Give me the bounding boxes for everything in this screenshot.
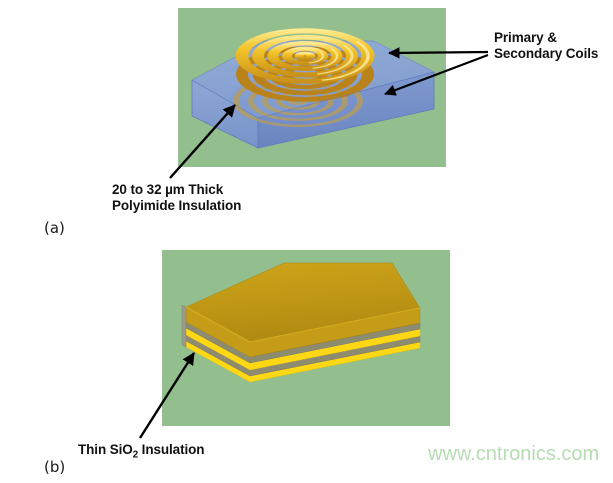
slab-glass-edges [192,72,434,148]
label-polyimide-insulation: 20 to 32 µm Thick Polyimide Insulation [112,182,241,214]
coils-line-1: Primary & [494,30,598,46]
figure-letter-a: (a) [44,219,65,237]
sio2-prefix: Thin SiO [78,442,133,457]
panel-a-graphic [178,8,446,167]
figure-root: Primary & Secondary Coils 20 to 32 µm Th… [0,0,613,483]
polyimide-line-2: Polyimide Insulation [112,198,241,214]
panel-b-graphic [162,250,450,426]
sio2-suffix: Insulation [138,442,204,457]
coils-line-2: Secondary Coils [494,46,598,62]
gold-die-top-face [186,263,420,342]
label-primary-secondary-coils: Primary & Secondary Coils [494,30,598,62]
polyimide-line-1: 20 to 32 µm Thick [112,182,241,198]
watermark: www.cntronics.com [428,443,599,466]
primary-coil [217,21,392,99]
panel-a-illustration [178,8,446,167]
gold-layer-bottom [184,316,417,380]
panel-b-illustration [162,250,450,426]
polyimide-slab [192,41,434,148]
secondary-coil-embedded [230,74,366,128]
layered-die-stack [182,263,420,382]
figure-letter-b: (b) [44,458,65,476]
label-sio2-insulation: Thin SiO2 Insulation [78,442,204,464]
